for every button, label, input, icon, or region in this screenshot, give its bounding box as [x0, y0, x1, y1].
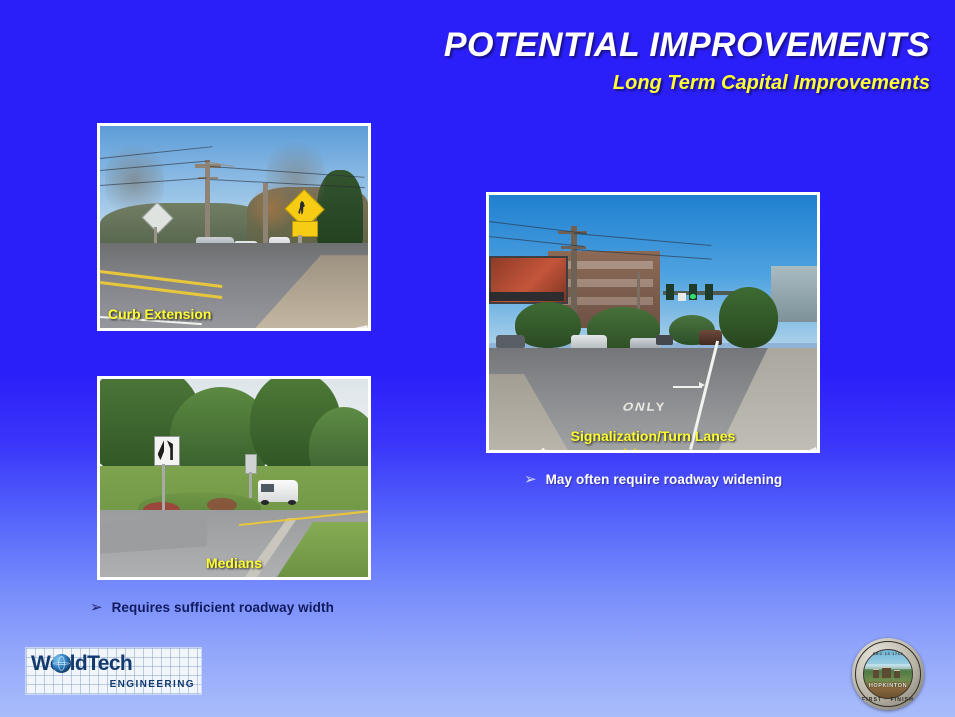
bullet-may-require-widening: ➢ May often require roadway widening [524, 472, 782, 487]
photo-caption-medians: Medians [100, 555, 368, 571]
arrow-bullet-icon: ➢ [90, 600, 103, 615]
photo-signalization-image: ONLY [489, 195, 817, 450]
seal-motto: FIRST · FINISH [852, 697, 924, 703]
bullet-requires-sufficient-width: ➢ Requires sufficient roadway width [90, 600, 334, 615]
bullet-text: Requires sufficient roadway width [112, 600, 334, 615]
photo-caption-curb-extension: Curb Extension [108, 306, 211, 322]
keep-right-sign-icon [154, 436, 180, 466]
slide-title-block: POTENTIAL IMPROVEMENTS Long Term Capital… [430, 28, 930, 95]
globe-icon [52, 654, 71, 673]
page-subtitle: Long Term Capital Improvements [430, 72, 930, 95]
arrow-bullet-icon: ➢ [524, 472, 537, 487]
only-pavement-marking: ONLY [622, 400, 669, 414]
photo-medians-image [100, 379, 368, 577]
pavement-arrow-marking [673, 386, 703, 388]
worldtech-logo-name: WorldTech [31, 653, 132, 674]
photo-medians: Medians [97, 376, 371, 580]
presentation-slide: POTENTIAL IMPROVEMENTS Long Term Capital… [0, 0, 955, 717]
page-title: POTENTIAL IMPROVEMENTS [430, 28, 930, 64]
town-seal: DEC 13 1715 HOPKINTON FIRST · FINISH [852, 638, 924, 710]
traffic-signal-head-icon [705, 284, 713, 299]
seal-founded-date: DEC 13 1715 [852, 651, 924, 656]
photo-caption-signalization: Signalization/Turn Lanes [489, 428, 817, 444]
worldtech-logo: WorldTech ENGINEERING [26, 648, 201, 694]
traffic-signal-head-icon [666, 284, 674, 299]
seal-town-name: HOPKINTON [852, 683, 924, 689]
worldtech-logo-tagline: ENGINEERING [110, 679, 195, 690]
arrow-plaque-icon [292, 221, 318, 237]
photo-signalization-turn-lanes: ONLY Signalization/Turn Lanes [486, 192, 820, 453]
seal-center-scene [863, 649, 913, 699]
photo-curb-extension-image [100, 126, 368, 328]
bullet-text: May often require roadway widening [546, 472, 783, 487]
photo-curb-extension: Curb Extension [97, 123, 371, 331]
